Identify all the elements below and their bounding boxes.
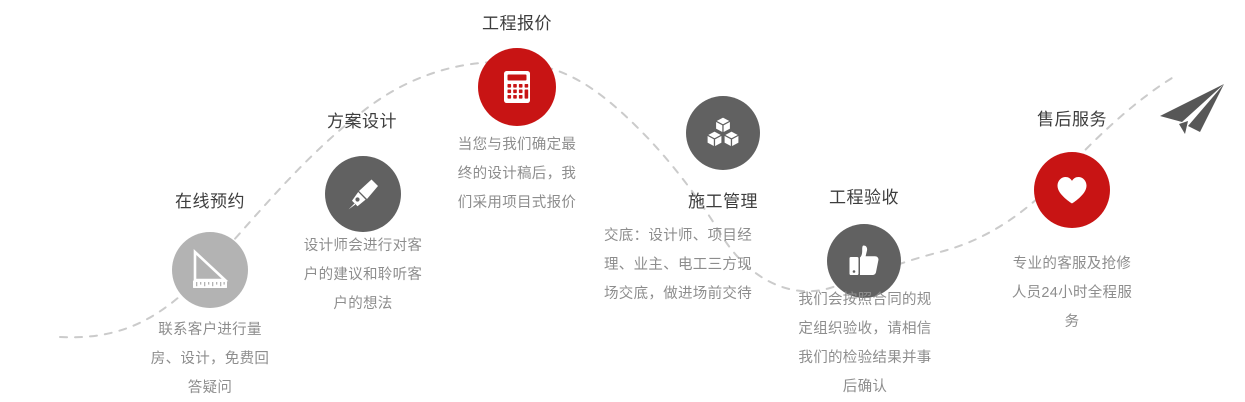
fountain-pen-icon[interactable] (325, 156, 401, 232)
step-desc-line: 房、设计，免费回 (120, 345, 300, 374)
step-desc-5: 我们会按照合同的规 定组织验收，请相信 我们的检验结果并事 后确认 (772, 286, 958, 402)
step-desc-line: 们采用项目式报价 (447, 189, 587, 218)
step-desc-1: 联系客户进行量 房、设计，免费回 答疑问 (120, 316, 300, 402)
triangle-ruler-icon[interactable] (172, 232, 248, 308)
step-desc-line: 答疑问 (120, 374, 300, 402)
step-desc-2: 设计师会进行对客 户的建议和聆听客 户的想法 (272, 232, 454, 319)
step-title-2: 方案设计 (282, 112, 442, 132)
calculator-icon[interactable] (478, 48, 556, 126)
step-title-1: 在线预约 (130, 192, 290, 212)
step-desc-line: 户的想法 (272, 290, 454, 319)
step-desc-line: 专业的客服及抢修 (984, 250, 1160, 279)
step-desc-line: 务 (984, 308, 1160, 337)
step-title-6: 售后服务 (992, 110, 1152, 130)
heart-icon[interactable] (1034, 152, 1110, 228)
step-title-3: 工程报价 (437, 14, 597, 34)
step-desc-line: 理、业主、电工三方现 (604, 251, 842, 280)
step-desc-line: 设计师会进行对客 (272, 232, 454, 261)
step-title-5: 工程验收 (784, 188, 944, 208)
step-desc-3: 当您与我们确定最 终的设计稿后，我 们采用项目式报价 (447, 131, 587, 218)
step-desc-line: 后确认 (772, 373, 958, 402)
step-desc-line: 定组织验收，请相信 (772, 315, 958, 344)
step-desc-line: 交底：设计师、项目经 (604, 222, 842, 251)
step-desc-6: 专业的客服及抢修 人员24小时全程服 务 (984, 250, 1160, 337)
boxes-icon[interactable] (686, 96, 760, 170)
step-desc-line: 人员24小时全程服 (984, 279, 1160, 308)
service-flow-infographic: 在线预约 (0, 0, 1245, 402)
step-desc-line: 终的设计稿后，我 (447, 160, 587, 189)
step-desc-line: 我们会按照合同的规 (772, 286, 958, 315)
step-desc-line: 我们的检验结果并事 (772, 344, 958, 373)
paper-plane-icon (1152, 82, 1232, 147)
step-desc-line: 户的建议和聆听客 (272, 261, 454, 290)
step-desc-line: 当您与我们确定最 (447, 131, 587, 160)
step-desc-line: 联系客户进行量 (120, 316, 300, 345)
